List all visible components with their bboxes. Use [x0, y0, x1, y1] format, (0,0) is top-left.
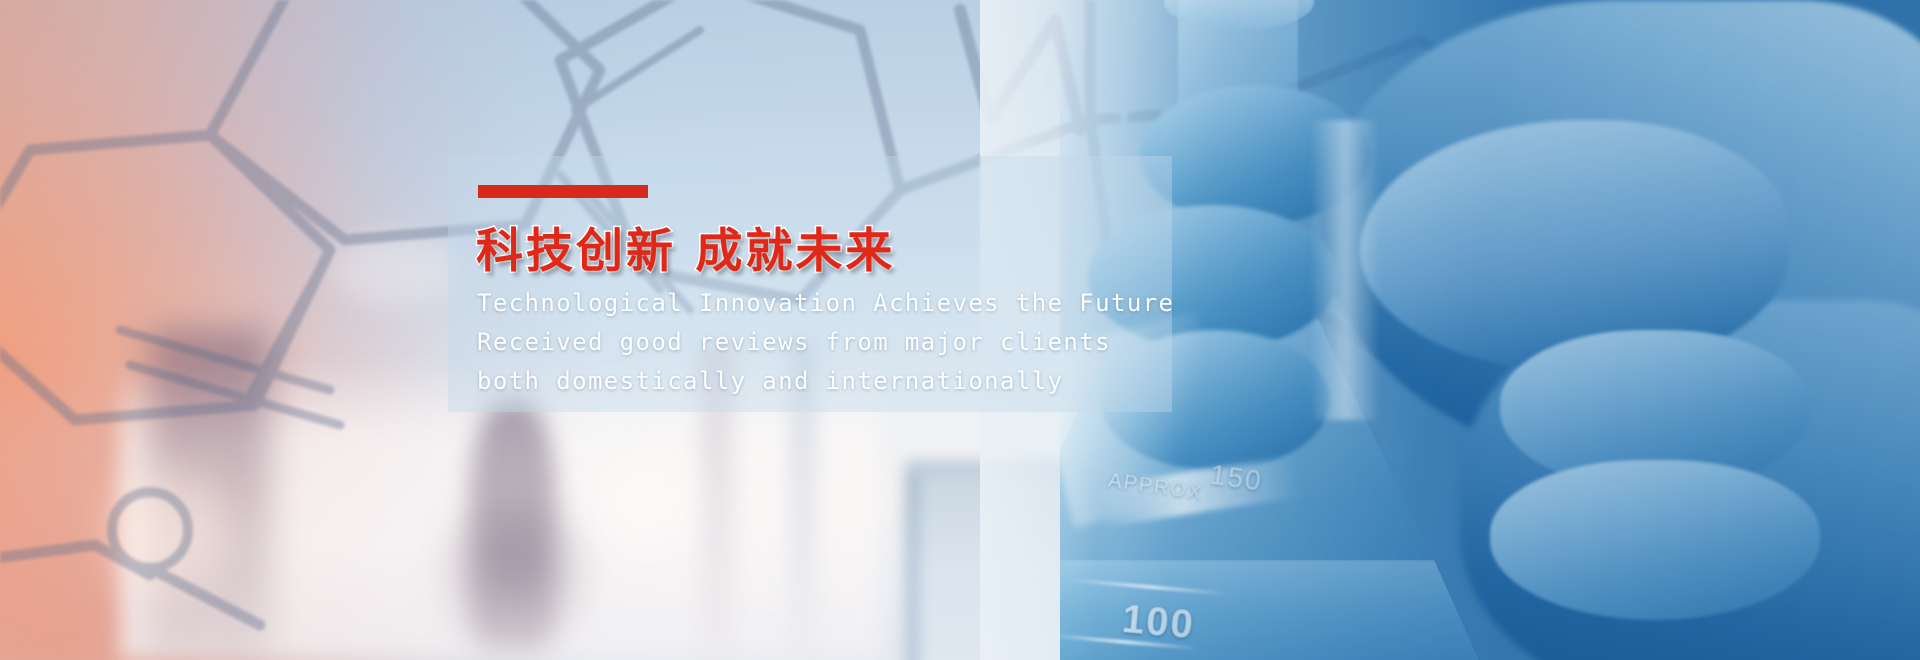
- hero-banner: APPROX 150 100 科技创新 成就未来 Technological I…: [0, 0, 1920, 660]
- blue-color-cast: [1060, 0, 1920, 660]
- accent-bar: [478, 185, 648, 198]
- hero-subtitle-line-2: Received good reviews from major clients: [477, 323, 1174, 362]
- hero-subtitle-line-1: Technological Innovation Achieves the Fu…: [477, 284, 1174, 323]
- hero-text-panel: 科技创新 成就未来 Technological Innovation Achie…: [448, 156, 1172, 412]
- hero-subtitle: Technological Innovation Achieves the Fu…: [477, 284, 1174, 401]
- scientist-hand-flask-photo: APPROX 150 100: [1060, 0, 1920, 660]
- page-title: 科技创新 成就未来: [476, 212, 895, 281]
- hero-subtitle-line-3: both domestically and internationally: [477, 362, 1174, 401]
